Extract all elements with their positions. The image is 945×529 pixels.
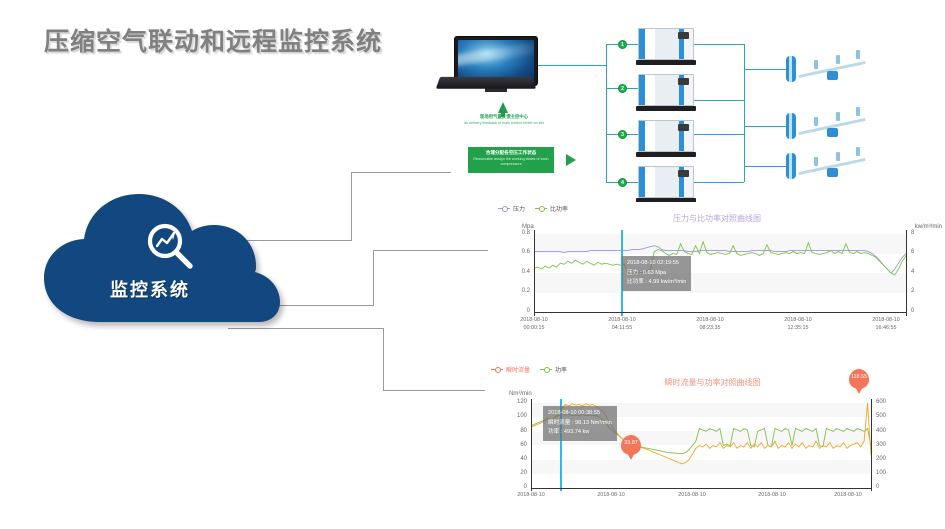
pipe-outlet-2b — [836, 112, 840, 121]
xtick-date: 2018-08-10 — [504, 317, 564, 325]
chart1-y2tick-1: 6 — [911, 249, 931, 255]
chart2-ytick-6: 0 — [503, 484, 527, 490]
compressor-3 — [638, 120, 694, 158]
chart1-title: 压力与比功率对照曲线图 — [492, 213, 942, 224]
arrow-right-icon — [566, 154, 576, 166]
xtick-date: 2018-08-10 — [662, 492, 722, 500]
xtick-date: 2018-08-10 — [818, 492, 878, 500]
chart2-y2tick-5: 100 — [876, 470, 898, 476]
compressor-panel-icon — [678, 78, 689, 85]
pump-1 — [827, 71, 838, 80]
chart1-xtick-1: 2018-08-10 04:11:55 — [592, 317, 652, 333]
pipe-outlet-1c — [856, 50, 860, 59]
chart1-series-svg — [534, 234, 906, 312]
chart2-ytick-4: 40 — [503, 456, 527, 462]
chart2-ytick-1: 100 — [503, 413, 527, 419]
legend-marker-icon — [535, 208, 547, 209]
chart2-xtick-4: 2018-08-10 — [818, 492, 878, 500]
legend-label: 比功率 — [550, 204, 568, 213]
xtick-date: 2018-08-10 — [581, 492, 641, 500]
xtick-date: 2018-08-10 — [768, 317, 828, 325]
tooltip-line-1: 压力 : 0.63 Mpa — [627, 269, 686, 279]
legend-marker-icon — [540, 369, 552, 370]
chart2-x-axis — [531, 488, 872, 489]
monitor-screen-image — [458, 40, 534, 82]
chart2-y2-axis — [871, 399, 872, 491]
chart1-y-axis — [534, 230, 535, 316]
assign-status-en: Reasonable assign the working states of … — [468, 157, 554, 167]
pump-2 — [827, 128, 838, 137]
chart2-xtick-1: 2018-08-10 — [581, 492, 641, 500]
chart2-y2tick-3: 300 — [876, 442, 898, 448]
chart1-y2tick-2: 4 — [911, 269, 931, 275]
page-title: 压缩空气联动和远程监控系统 — [44, 22, 382, 58]
chart2-ytick-3: 60 — [503, 442, 527, 448]
chart1-plot-area — [534, 234, 906, 312]
xtick-date: 2018-08-10 — [501, 492, 561, 500]
chart-pressure-vs-specific-power: 压力 比功率 压力与比功率对照曲线图 Mpa kw/m³/min 0.8 0.6… — [492, 202, 942, 338]
chart2-y2tick-4: 200 — [876, 456, 898, 462]
assign-status-box: 合理分配各空压工作状态 Reasonable assign the workin… — [468, 147, 554, 173]
chart1-xtick-4: 2018-08-10 16:46:55 — [856, 317, 916, 333]
node-dot-3: 3 — [618, 130, 627, 139]
chart2-y2tick-2: 400 — [876, 428, 898, 434]
pipe-outlet-2c — [856, 107, 860, 116]
air-receiver-3 — [786, 153, 796, 179]
tooltip-line-2: 比功率 : 4.99 kw/m³/min — [627, 278, 686, 288]
chart1-xtick-2: 2018-08-10 08:23:35 — [680, 317, 740, 333]
tooltip-line-1: 瞬时流量 : 98.13 Nm³/min — [548, 419, 612, 429]
compressor-1 — [638, 28, 694, 66]
node-dot-4: 4 — [618, 178, 627, 187]
connector-2-vertical — [373, 250, 374, 306]
bus-monitor-to-trunk — [538, 65, 606, 66]
chart2-xtick-2: 2018-08-10 — [662, 492, 722, 500]
compressor-body — [638, 28, 694, 60]
pipe-outlet-2a — [814, 117, 818, 126]
connector-3-vertical — [383, 328, 384, 390]
compressor-4 — [638, 166, 694, 204]
node-dot-1: 1 — [618, 40, 627, 49]
pipe-outlet-1b — [836, 55, 840, 64]
chart1-legend[interactable]: 压力 比功率 — [498, 204, 568, 213]
pipe-outlet-3b — [836, 152, 840, 161]
connector-2-horizontal-b — [373, 250, 488, 251]
xtick-time: 08:23:35 — [680, 325, 740, 333]
xtick-time: 12:35:15 — [768, 325, 828, 333]
legend-label: 功率 — [555, 365, 567, 374]
legend-item-pressure[interactable]: 压力 — [498, 204, 525, 213]
pipe-outlet-3c — [856, 147, 860, 156]
keyboard — [436, 77, 536, 89]
legend-item-flow[interactable]: 瞬时流量 — [491, 365, 530, 374]
monitor-caption-en: Air delivery feedback of main control ce… — [444, 121, 564, 126]
tooltip-timestamp: 2018-08-10 02:19:55 — [627, 259, 686, 269]
chart1-ytick-0: 0.8 — [506, 230, 530, 236]
marker-pin-tip-icon — [853, 383, 865, 394]
compressor-2 — [638, 74, 694, 112]
connector-1-vertical — [351, 172, 352, 241]
chart1-y2tick-4: 0 — [911, 308, 931, 314]
chart2-y2tick-1: 500 — [876, 413, 898, 419]
monitoring-system-cloud[interactable]: 监控系统 — [38, 192, 290, 327]
chart2-marker-high[interactable]: 118.55 — [849, 369, 869, 395]
tooltip-line-2: 功率 : 493.74 kw — [548, 428, 612, 438]
collector-out-4 — [694, 182, 744, 183]
legend-item-power[interactable]: 功率 — [540, 365, 567, 374]
chart1-ytick-2: 0.4 — [506, 269, 530, 275]
chart2-y-axis — [531, 399, 532, 491]
chart2-xtick-3: 2018-08-10 — [742, 492, 802, 500]
compressor-body — [638, 166, 694, 198]
pump-3 — [827, 168, 838, 177]
chart2-legend[interactable]: 瞬时流量 功率 — [491, 365, 567, 374]
chart1-xtick-3: 2018-08-10 12:35:15 — [768, 317, 828, 333]
pipe-outlet-1a — [814, 60, 818, 69]
xtick-time: 16:46:55 — [856, 325, 916, 333]
compressor-base — [636, 106, 696, 111]
chart2-ytick-2: 80 — [503, 428, 527, 434]
chart2-ytick-0: 120 — [503, 399, 527, 405]
marker-label: 118.55 — [849, 374, 869, 380]
collector-out-3 — [694, 134, 744, 135]
xtick-date: 2018-08-10 — [592, 317, 652, 325]
compressor-body — [638, 74, 694, 106]
connector-3-horizontal-b — [383, 390, 488, 391]
monitor-caption: 现场用气量反馈主控中心 Air delivery feedback of mai… — [444, 114, 564, 125]
legend-marker-icon — [498, 208, 510, 209]
marker-pin-tip-icon — [625, 449, 637, 460]
slide-canvas: 压缩空气联动和远程监控系统 监控系统 现场用 — [0, 0, 945, 529]
chart1-tooltip: 2018-08-10 02:19:55 压力 : 0.63 Mpa 比功率 : … — [622, 256, 691, 291]
collector-out-1 — [694, 44, 744, 45]
xtick-time: 00:00:15 — [504, 325, 564, 333]
collector-vertical — [744, 44, 745, 182]
bus-trunk-vertical — [606, 44, 607, 182]
chart1-x-axis — [534, 312, 907, 313]
cloud-label: 监控系统 — [38, 276, 262, 302]
monitor-caption-cn: 现场用气量反馈主控中心 — [444, 114, 564, 121]
chart2-y2tick-6: 0 — [876, 484, 898, 490]
collector-to-tank-3 — [744, 166, 786, 167]
compressor-base — [636, 60, 696, 65]
assign-status-cn: 合理分配各空压工作状态 — [468, 150, 554, 157]
chart2-ytick-5: 20 — [503, 470, 527, 476]
topology-diagram: 现场用气量反馈主控中心 Air delivery feedback of mai… — [432, 14, 942, 200]
marker-label: 33.87 — [621, 440, 641, 446]
collector-out-2 — [694, 100, 744, 101]
legend-label: 瞬时流量 — [506, 365, 530, 374]
chart1-y2-axis — [906, 230, 907, 316]
air-receiver-2 — [786, 113, 796, 139]
chart2-xtick-0: 2018-08-10 — [501, 492, 561, 500]
collector-to-tank-2 — [744, 126, 786, 127]
compressor-panel-icon — [678, 32, 689, 39]
xtick-date: 2018-08-10 — [680, 317, 740, 325]
chart2-tooltip: 2018-08-10 00:38:55 瞬时流量 : 98.13 Nm³/min… — [543, 406, 617, 441]
node-dot-2: 2 — [618, 84, 627, 93]
chart2-marker-low[interactable]: 33.87 — [621, 435, 641, 461]
chart2-y2tick-0: 600 — [876, 399, 898, 405]
xtick-time: 04:11:55 — [592, 325, 652, 333]
legend-marker-icon — [491, 369, 503, 370]
chart1-y2tick-0: 8 — [911, 230, 931, 236]
chart1-ytick-4: 0 — [506, 308, 530, 314]
compressor-base — [636, 152, 696, 157]
xtick-date: 2018-08-10 — [856, 317, 916, 325]
chart1-y2tick-3: 2 — [911, 288, 931, 294]
collector-to-tank-1 — [744, 69, 786, 70]
chart-flow-vs-power: 瞬时流量 功率 瞬时流量与功率对照曲线图 Nm³/min 120 100 80 … — [485, 363, 940, 529]
compressor-panel-icon — [678, 170, 689, 177]
tooltip-timestamp: 2018-08-10 00:38:55 — [548, 409, 612, 419]
chart1-ytick-1: 0.6 — [506, 249, 530, 255]
xtick-date: 2018-08-10 — [742, 492, 802, 500]
chart1-ytick-3: 0.2 — [506, 288, 530, 294]
compressor-body — [638, 120, 694, 152]
legend-label: 压力 — [513, 204, 525, 213]
pipe-outlet-3a — [814, 157, 818, 166]
connector-3-horizontal-a — [228, 328, 383, 329]
chart2-title: 瞬时流量与功率对照曲线图 — [485, 377, 940, 388]
air-receiver-1 — [786, 56, 796, 82]
legend-item-specific-power[interactable]: 比功率 — [535, 204, 568, 213]
chart1-xtick-0: 2018-08-10 00:00:15 — [504, 317, 564, 333]
chart-magnifier-icon — [142, 218, 198, 274]
chart2-y-axis-unit: Nm³/min — [509, 391, 532, 397]
compressor-panel-icon — [678, 124, 689, 131]
